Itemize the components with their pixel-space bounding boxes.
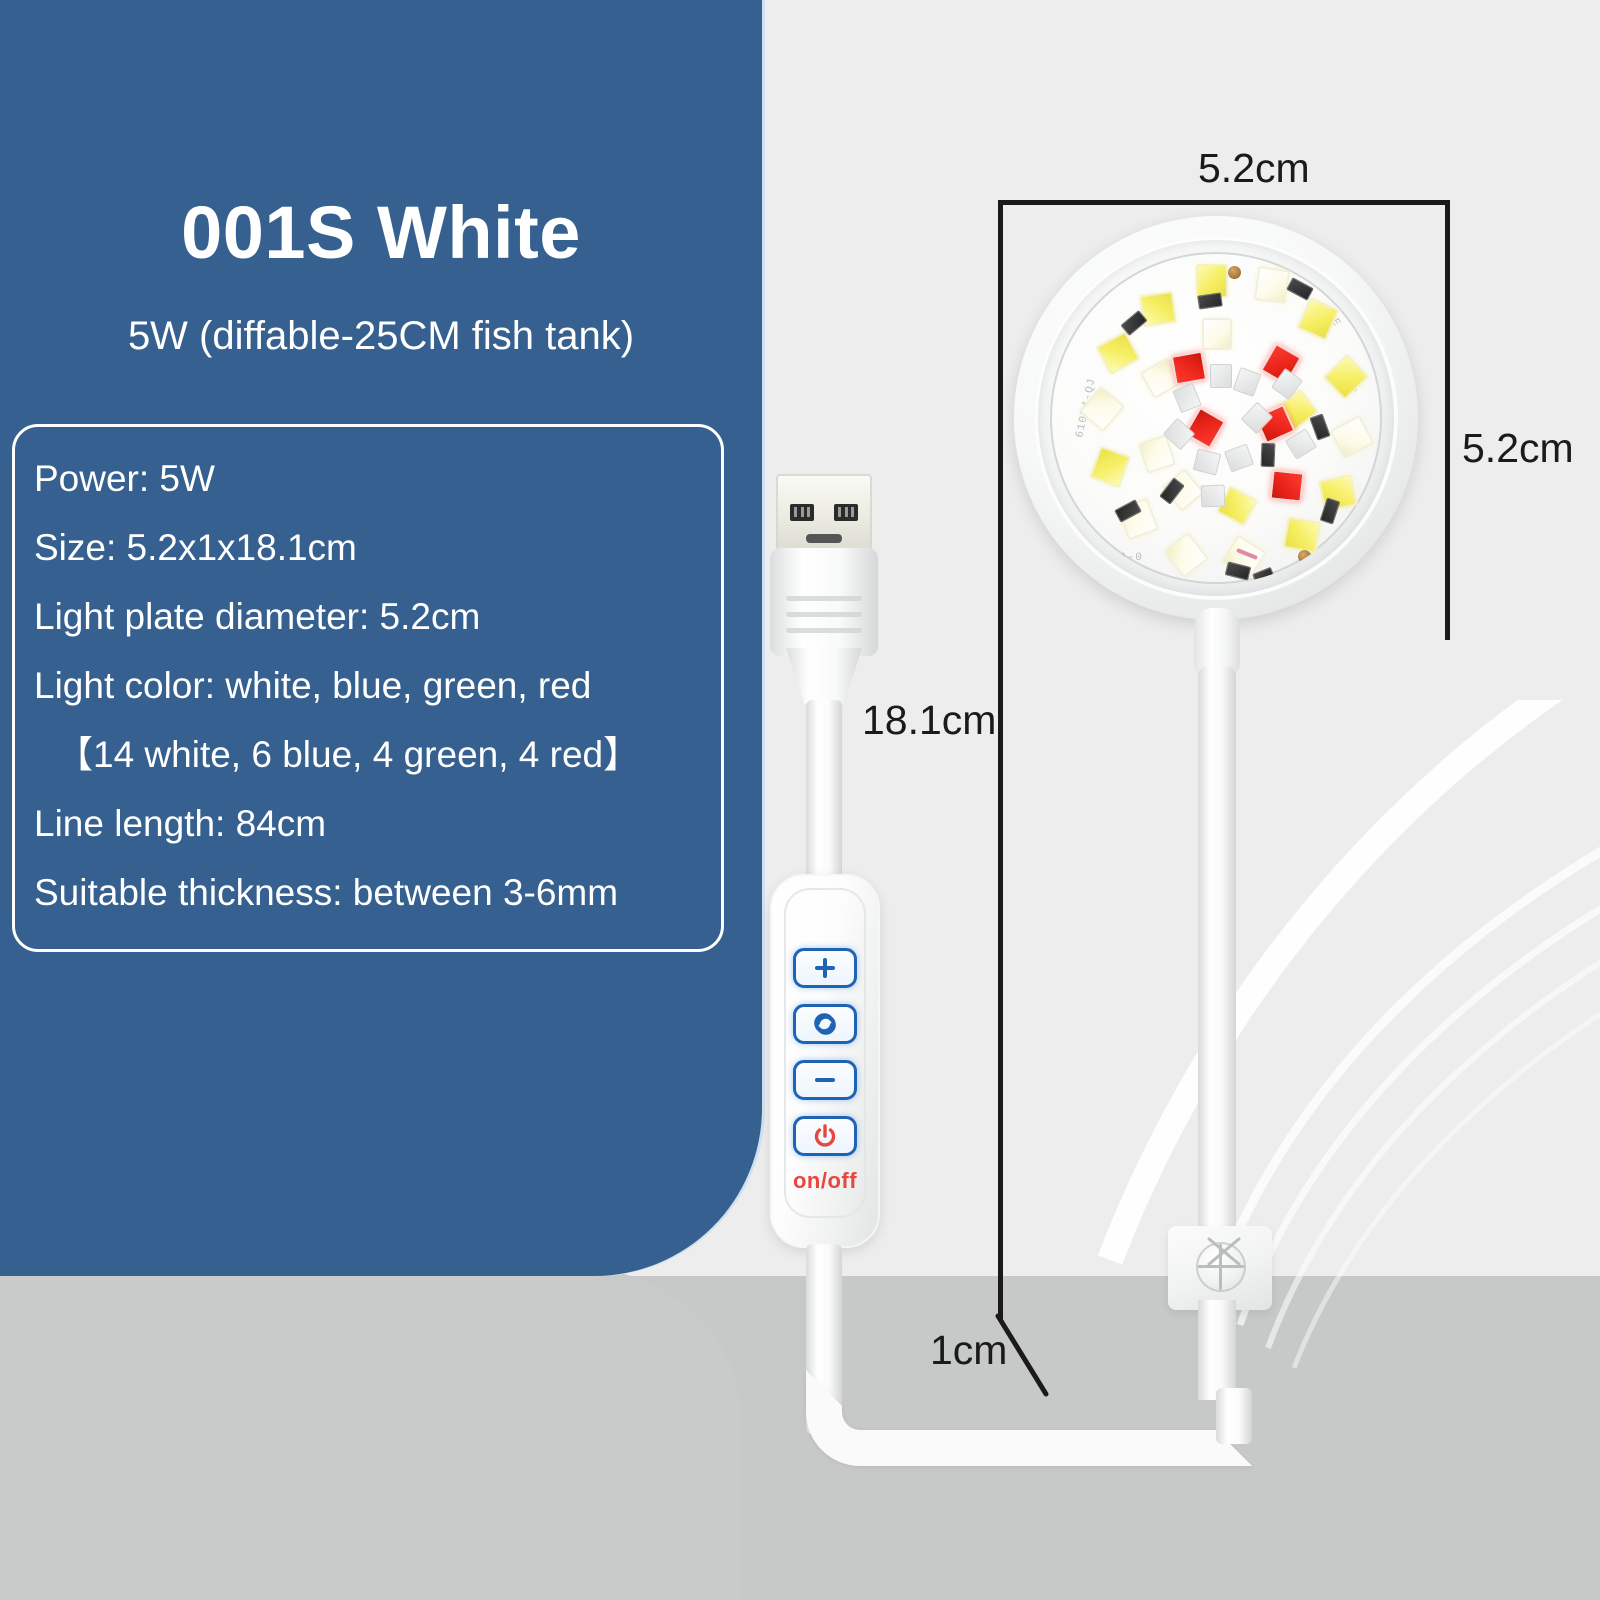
onoff-label: on/off	[770, 1168, 880, 1194]
led-white	[1329, 415, 1374, 459]
dim-label-height: 5.2cm	[1462, 428, 1574, 469]
led-white	[1163, 532, 1209, 578]
mode-cycle-button[interactable]	[793, 1004, 857, 1044]
minus-icon	[811, 1066, 839, 1094]
led-white	[1089, 446, 1131, 489]
led-white	[1282, 516, 1321, 553]
clamp-spoke	[1198, 1265, 1244, 1268]
background-grey-blob	[0, 1262, 740, 1600]
led-red	[1171, 350, 1208, 385]
page-subtitle: 5W (diffable-25CM fish tank)	[0, 316, 762, 356]
dim-right-vertical-line	[1445, 200, 1450, 640]
led-white	[1296, 297, 1339, 341]
usb-grip-ridge	[786, 628, 862, 633]
led-blue	[1210, 364, 1232, 388]
spec-list: Power: 5WSize: 5.2x1x18.1cmLight plate d…	[34, 444, 724, 927]
solder-pad	[1298, 550, 1311, 563]
spec-line: Line length: 84cm	[34, 789, 724, 858]
cable-upper-segment	[806, 700, 842, 884]
led-white	[1254, 266, 1290, 304]
dim-label-thickness: 1cm	[930, 1330, 1007, 1371]
power-button[interactable]	[793, 1116, 857, 1156]
led-green	[1233, 367, 1262, 397]
led-white	[1323, 354, 1370, 401]
dim-label-length: 18.1cm	[862, 700, 996, 741]
brightness-up-button[interactable]	[793, 948, 857, 988]
plus-icon	[811, 954, 839, 982]
usb-grip-ridge	[786, 612, 862, 617]
usb-tongue	[806, 534, 842, 543]
usb-contact-slot	[834, 504, 858, 521]
spec-line: 【14 white, 6 blue, 4 green, 4 red】	[34, 720, 724, 789]
lamp-head: 61054-QJ 3E 1-0 1-0	[1014, 216, 1418, 620]
led-white	[1095, 331, 1140, 375]
spec-line: Light color: white, blue, green, red	[34, 651, 724, 720]
power-icon	[811, 1122, 839, 1150]
led-red	[1184, 407, 1226, 450]
dim-length-vertical-line	[998, 200, 1003, 1320]
spec-line: Suitable thickness: between 3-6mm	[34, 858, 724, 927]
usb-contact-slot	[790, 504, 814, 521]
cable-right-segment	[1216, 1388, 1252, 1444]
swoosh-icon	[960, 700, 1600, 1400]
dim-top-horizontal-line	[998, 200, 1450, 205]
led-green	[1224, 444, 1254, 473]
spec-line: Light plate diameter: 5.2cm	[34, 582, 724, 651]
resistor-chip	[1309, 413, 1330, 440]
led-blue	[1193, 448, 1222, 475]
usb-grip-ridge	[786, 596, 862, 601]
infographic-canvas: 001S White 5W (diffable-25CM fish tank) …	[0, 0, 1600, 1600]
dim-label-width: 5.2cm	[1198, 148, 1310, 189]
resistor-chip	[1197, 292, 1223, 309]
spec-line: Power: 5W	[34, 444, 724, 513]
brightness-down-button[interactable]	[793, 1060, 857, 1100]
led-blue	[1201, 485, 1226, 508]
led-board: 61054-QJ 3E 1-0 1-0	[1050, 252, 1382, 584]
decorative-swoosh-group	[960, 700, 1600, 1400]
page-title: 001S White	[0, 196, 762, 270]
solder-pad	[1228, 266, 1241, 279]
gooseneck-arm	[1198, 666, 1236, 1232]
board-mark-bottom: 1-0	[1120, 552, 1143, 564]
resistor-chip	[1261, 443, 1276, 467]
led-white	[1202, 318, 1232, 350]
cable-bend	[806, 1370, 1252, 1466]
led-red	[1270, 469, 1305, 502]
usb-plug-body	[770, 548, 878, 656]
spec-line: Size: 5.2x1x18.1cm	[34, 513, 724, 582]
cycle-icon	[811, 1010, 839, 1038]
